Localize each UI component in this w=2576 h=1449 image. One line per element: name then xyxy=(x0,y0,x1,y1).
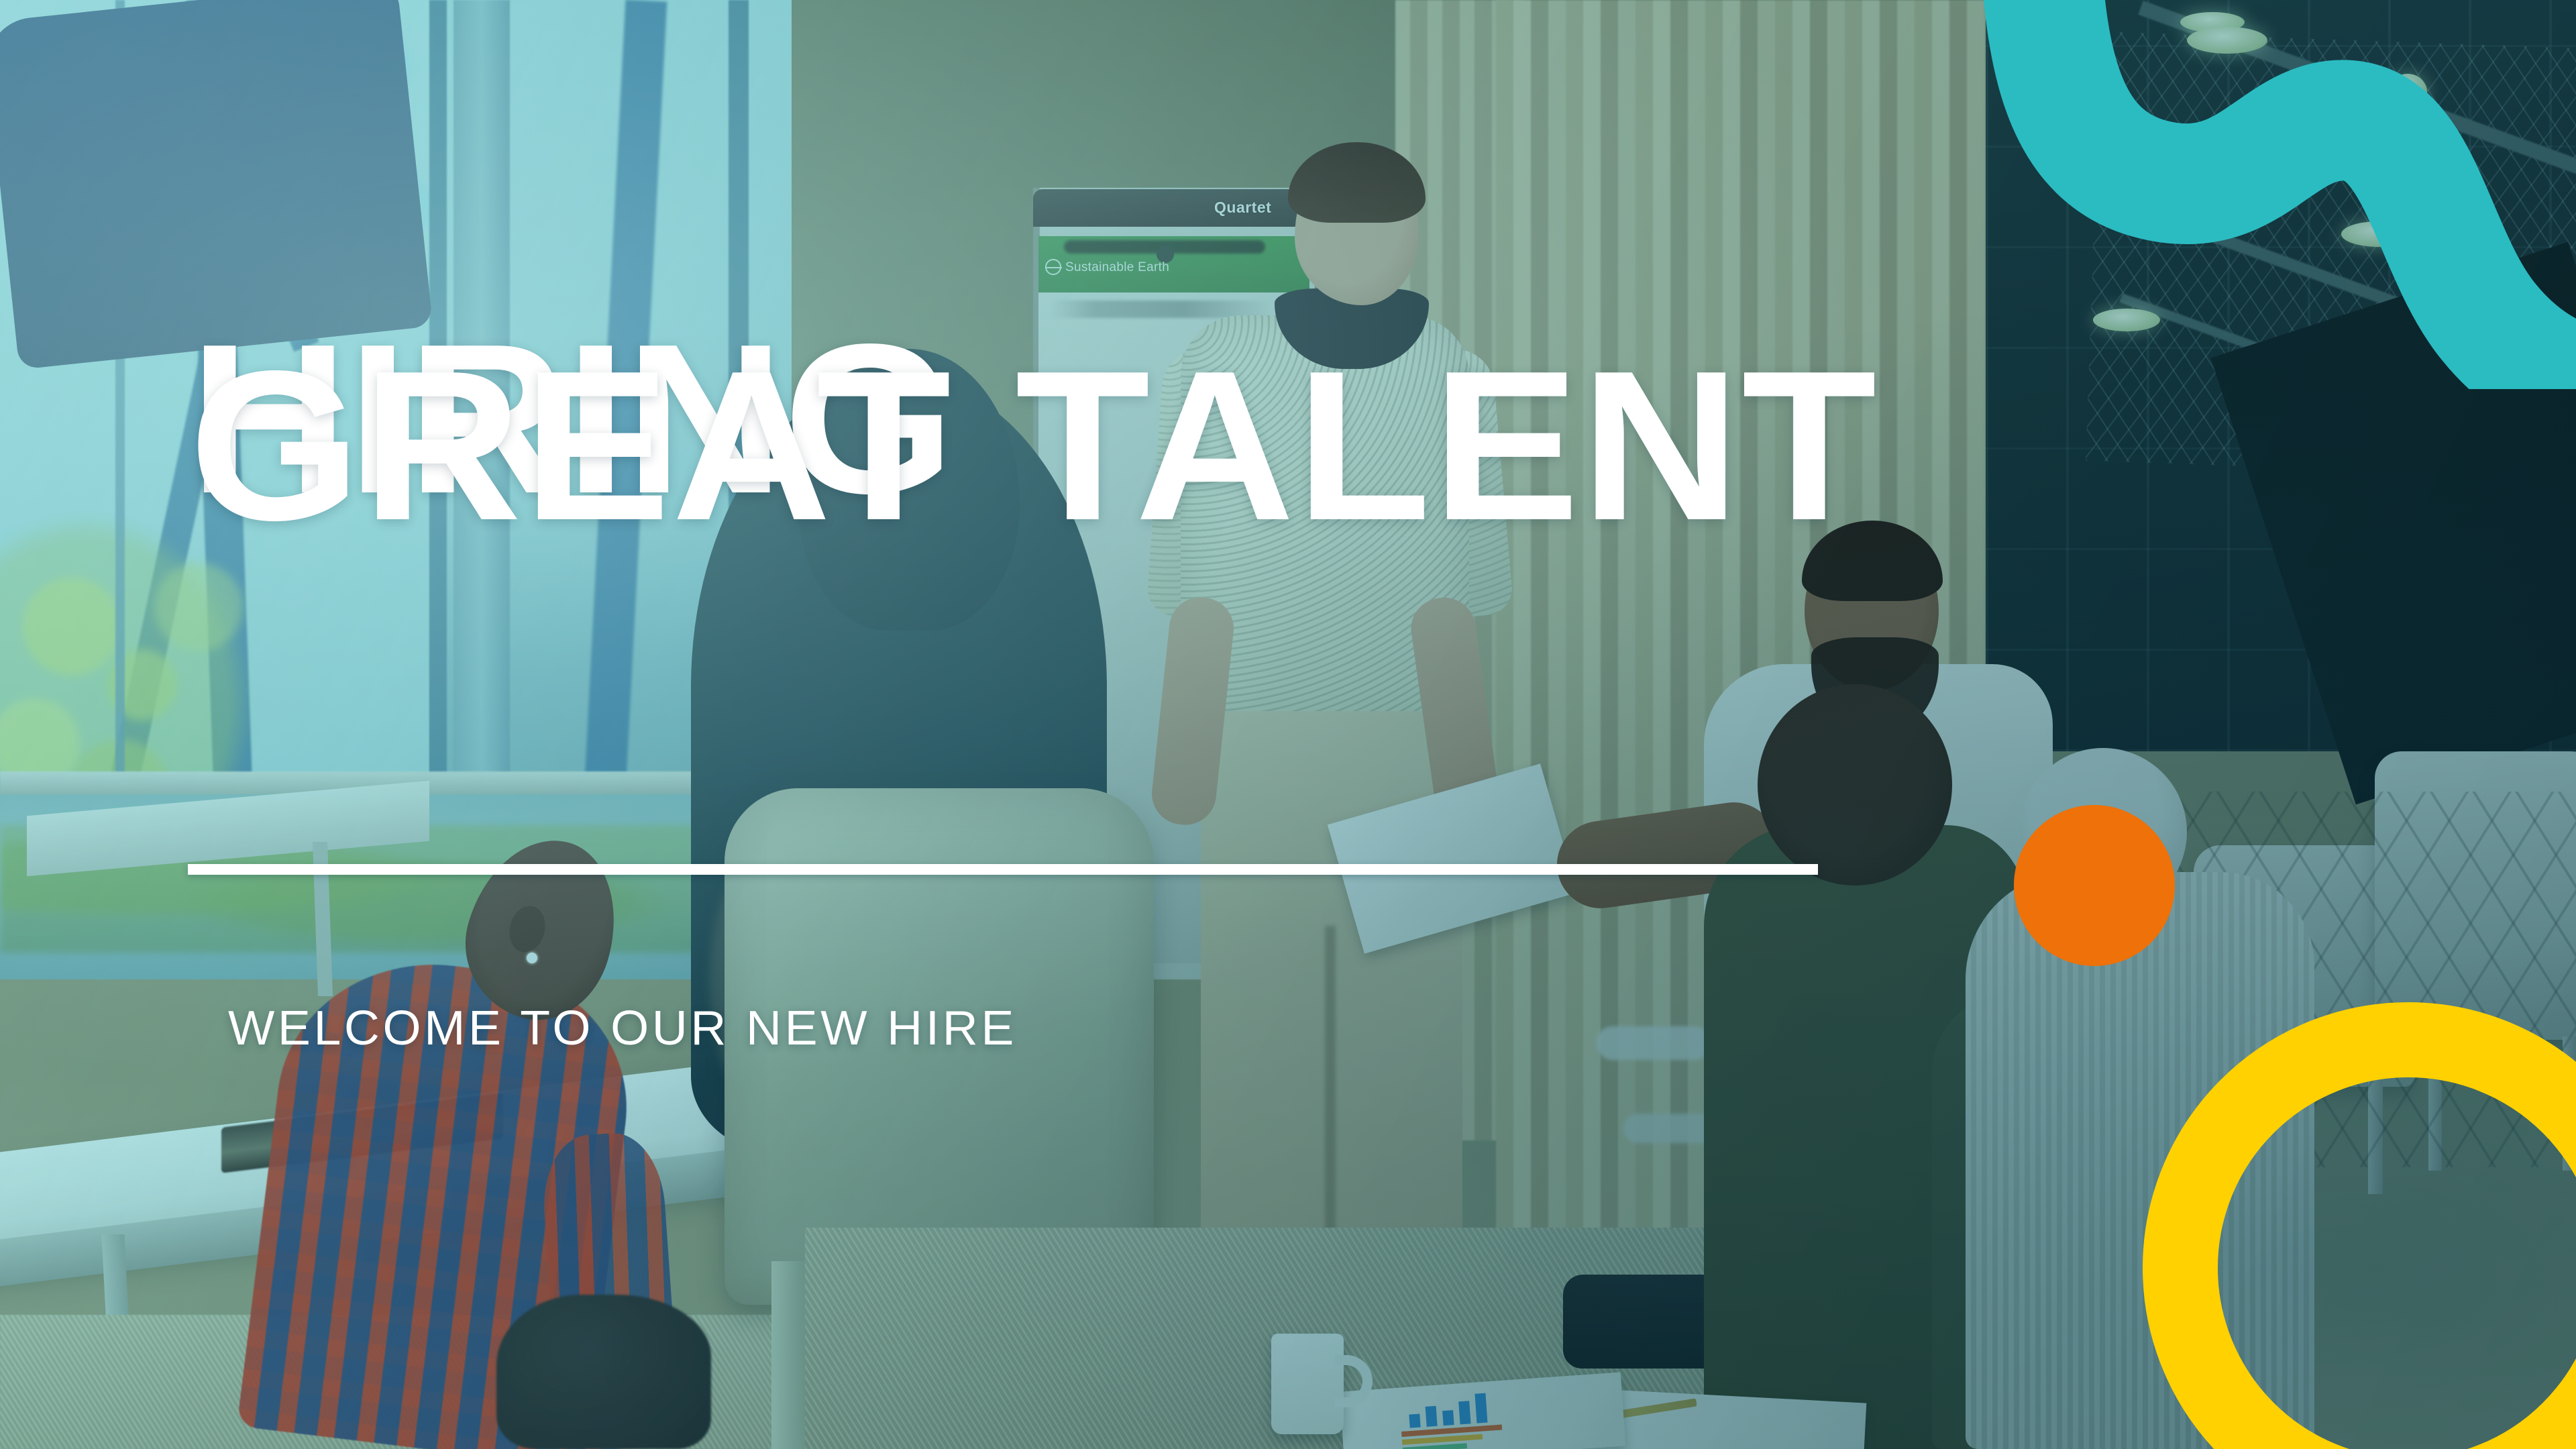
divider-rule xyxy=(188,864,1818,875)
headline-line-2: GREAT TALENT xyxy=(189,341,229,377)
vignette-overlay xyxy=(0,0,2576,1449)
background-photograph: Sustainable Earth Quartet xyxy=(0,0,2576,1449)
poster-canvas: Sustainable Earth Quartet xyxy=(0,0,2576,1449)
subtitle: WELCOME TO OUR NEW HIRE xyxy=(228,1001,1017,1056)
page-title: HIRING GREAT TALENT xyxy=(189,314,272,377)
